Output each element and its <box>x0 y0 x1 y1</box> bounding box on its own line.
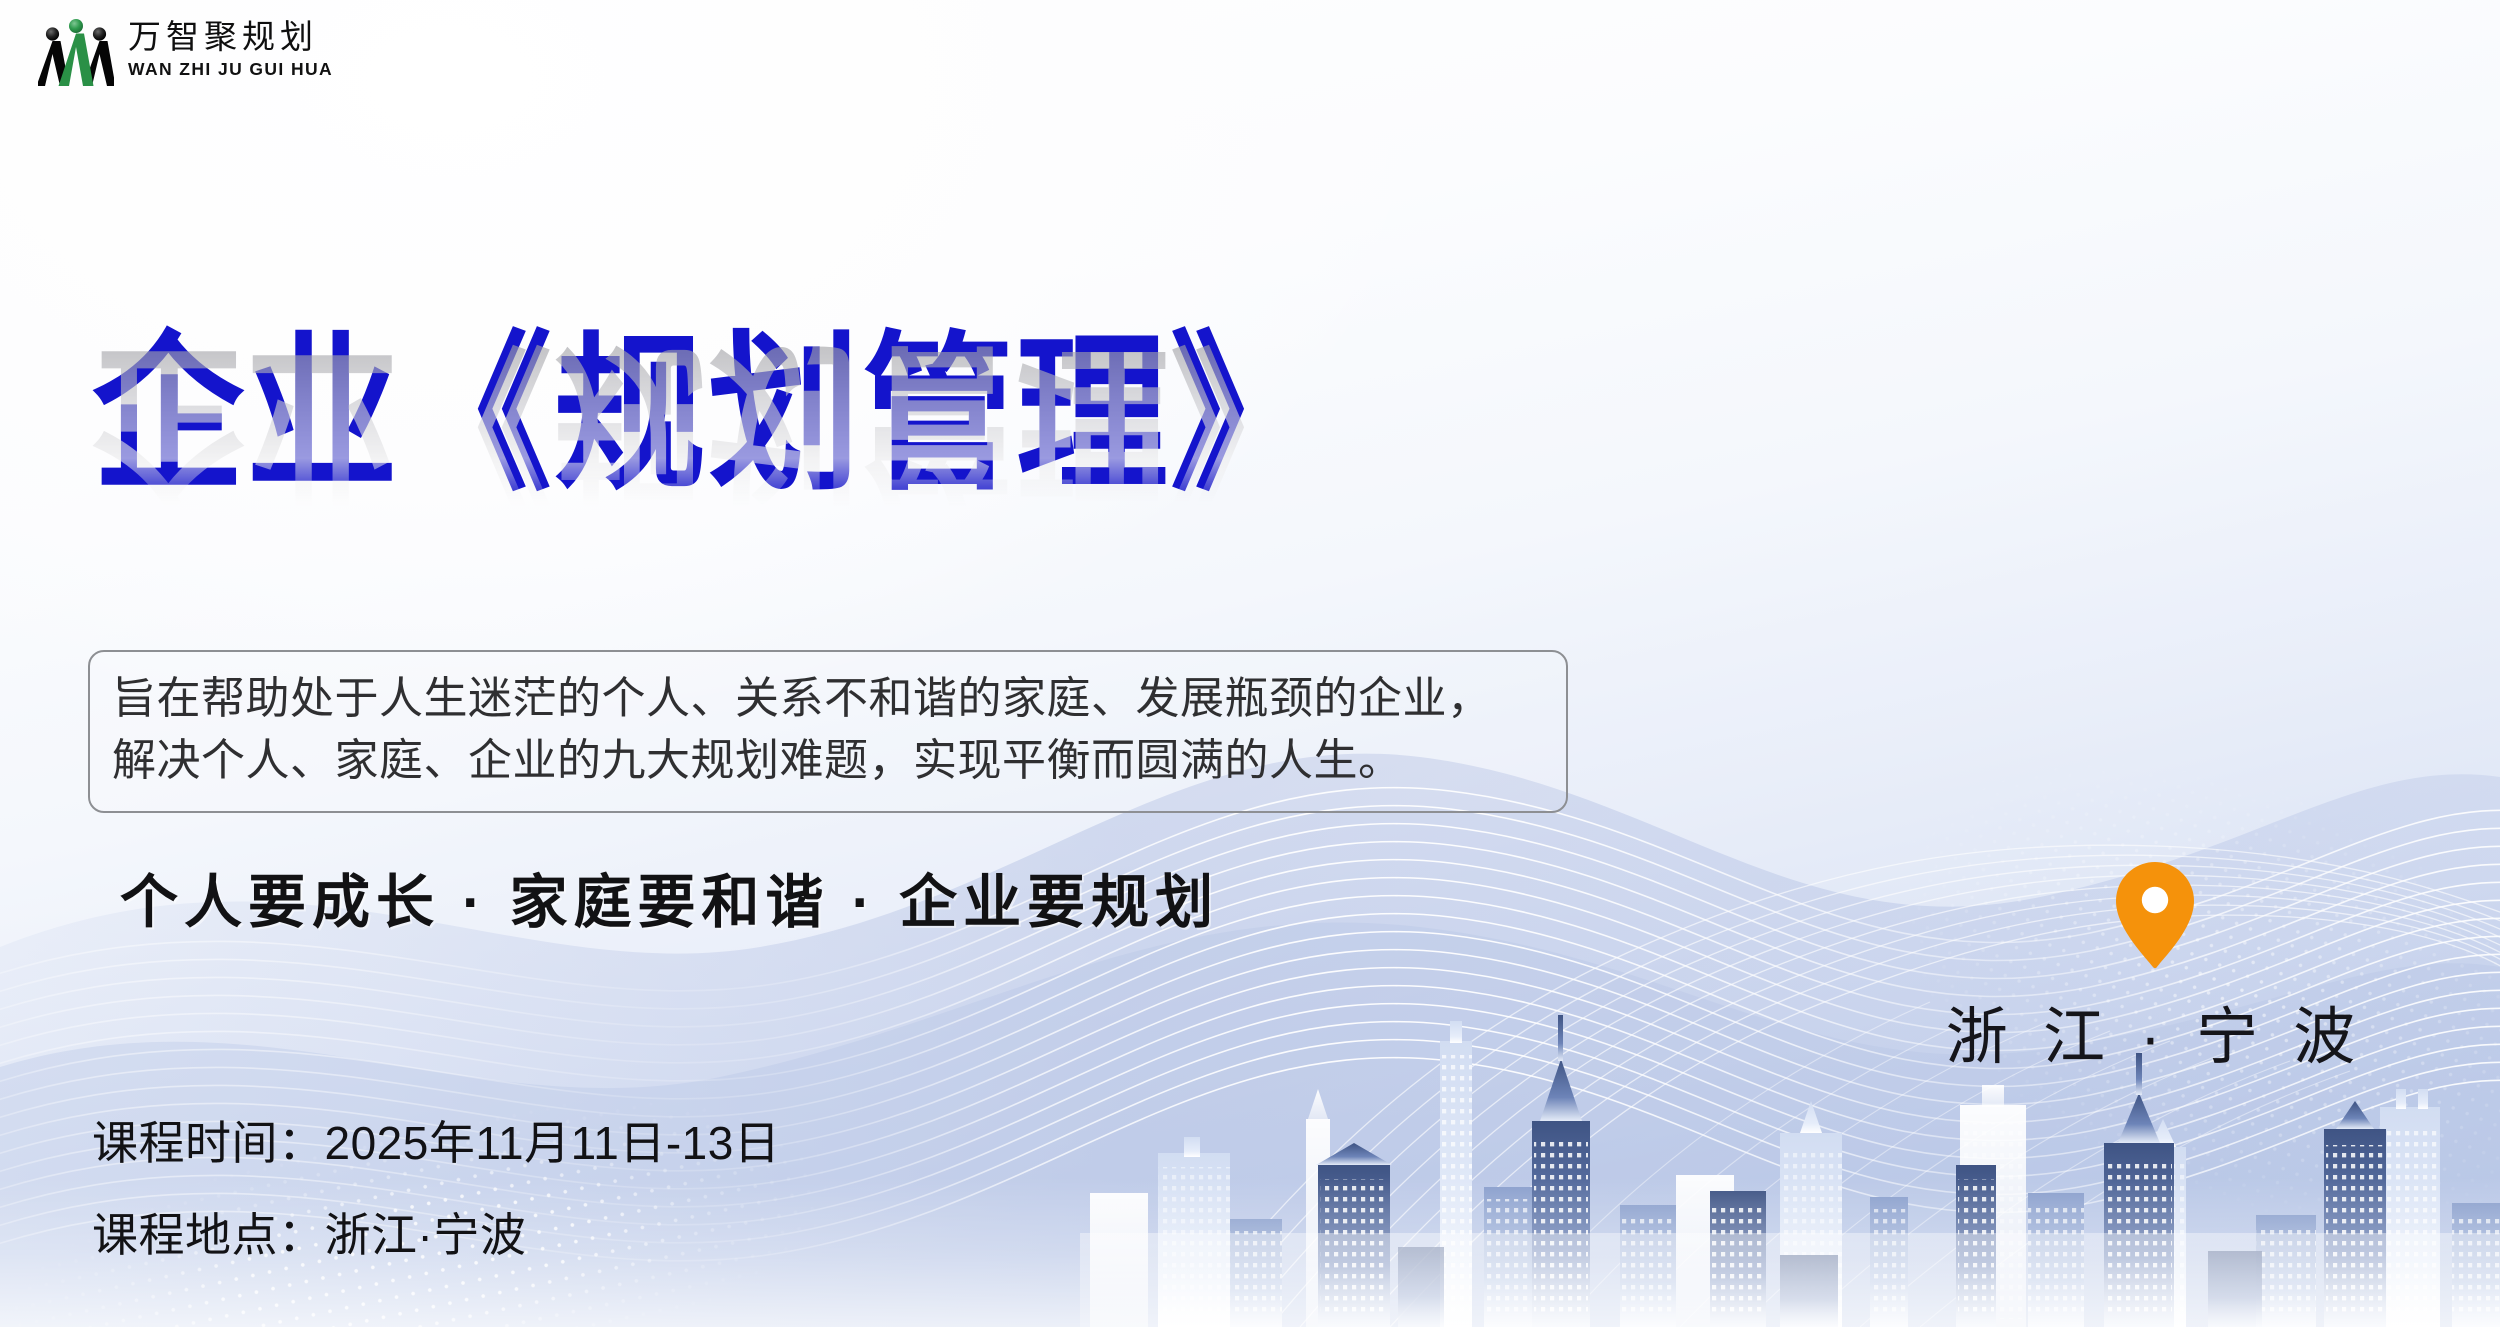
map-pin-icon <box>2114 860 2196 970</box>
description-line-1: 旨在帮助处于人生迷茫的个人、关系不和谐的家庭、发展瓶颈的企业， <box>112 668 1544 730</box>
brand-wordmark: 万智聚规划 WAN ZHI JU GUI HUA <box>128 22 333 79</box>
description-box: 旨在帮助处于人生迷茫的个人、关系不和谐的家庭、发展瓶颈的企业， 解决个人、家庭、… <box>88 650 1568 813</box>
course-time: 课程时间：2025年11月11日-13日 <box>92 1120 780 1166</box>
tagline: 个人要成长 · 家庭要和谐 · 企业要规划 <box>120 855 1219 939</box>
course-location: 课程地点：浙江·宁波 <box>92 1212 780 1258</box>
location-badge: 浙 江 · 宁 波 <box>1945 860 2365 1076</box>
page-title-reflection: 企业《规划管理》 <box>92 336 1324 506</box>
brand-logo[interactable]: 万智聚规划 WAN ZHI JU GUI HUA <box>38 14 333 86</box>
brand-name-en: WAN ZHI JU GUI HUA <box>128 61 333 79</box>
location-label: 浙 江 · 宁 波 <box>1946 986 2365 1076</box>
poster-canvas: 万智聚规划 WAN ZHI JU GUI HUA 企业《规划管理》 企业《规划管… <box>0 0 2500 1327</box>
hero-title-group: 企业《规划管理》 企业《规划管理》 <box>92 330 1324 482</box>
description-line-2: 解决个人、家庭、企业的九大规划难题，实现平衡而圆满的人生。 <box>112 730 1544 792</box>
three-people-m-logo-icon <box>38 14 114 86</box>
course-info: 课程时间：2025年11月11日-13日 课程地点：浙江·宁波 <box>92 1120 780 1258</box>
brand-name-cn: 万智聚规划 <box>128 22 333 55</box>
